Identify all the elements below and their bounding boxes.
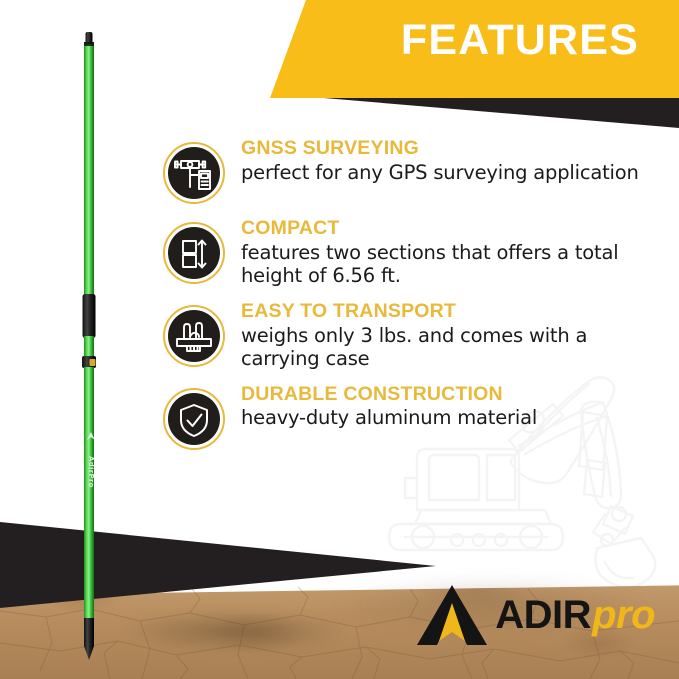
feature-item-durable-construction: DURABLE CONSTRUCTION heavy-duty aluminum… <box>163 384 663 450</box>
brand-wordmark: ADIRpro <box>495 595 655 635</box>
feature-description: heavy-duty aluminum material <box>241 406 663 429</box>
feature-title: GNSS SURVEYING <box>241 138 663 160</box>
feature-badge <box>163 388 225 450</box>
feature-text: GNSS SURVEYING perfect for any GPS surve… <box>241 138 663 184</box>
shield-check-icon <box>168 393 220 445</box>
adirpro-chevron-icon <box>415 583 489 647</box>
feature-description: perfect for any GPS surveying applicatio… <box>241 161 663 184</box>
feature-badge <box>163 305 225 367</box>
feature-badge <box>163 142 225 204</box>
feature-item-compact: COMPACT features two sections that offer… <box>163 218 663 287</box>
feature-badge <box>163 222 225 284</box>
brand-name-primary: ADIR <box>495 595 591 635</box>
feature-list: GNSS SURVEYING perfect for any GPS surve… <box>163 138 663 464</box>
page-title: FEATURES <box>370 19 670 62</box>
feature-item-gnss-surveying: GNSS SURVEYING perfect for any GPS surve… <box>163 138 663 204</box>
brand-name-secondary: pro <box>592 595 655 635</box>
feature-text: DURABLE CONSTRUCTION heavy-duty aluminum… <box>241 384 663 430</box>
feature-description: features two sections that offers a tota… <box>241 241 663 287</box>
product-feature-infographic: FEATURES <box>0 0 679 679</box>
feature-title: DURABLE CONSTRUCTION <box>241 384 663 406</box>
svg-text:AdirPro: AdirPro <box>87 456 95 488</box>
feature-title: COMPACT <box>241 218 663 240</box>
green-surveying-pole: AdirPro <box>78 26 100 666</box>
gnss-receiver-icon <box>168 147 220 199</box>
two-sections-height-icon <box>168 227 220 279</box>
feature-text: EASY TO TRANSPORT weighs only 3 lbs. and… <box>241 301 663 370</box>
feature-text: COMPACT features two sections that offer… <box>241 218 663 287</box>
pole-ground-shadow <box>120 609 350 653</box>
feature-title: EASY TO TRANSPORT <box>241 301 663 323</box>
hand-grip-pole-icon <box>168 310 220 362</box>
feature-description: weighs only 3 lbs. and comes with a carr… <box>241 324 663 370</box>
brand-logo: ADIRpro <box>415 583 655 647</box>
feature-item-easy-to-transport: EASY TO TRANSPORT weighs only 3 lbs. and… <box>163 301 663 370</box>
